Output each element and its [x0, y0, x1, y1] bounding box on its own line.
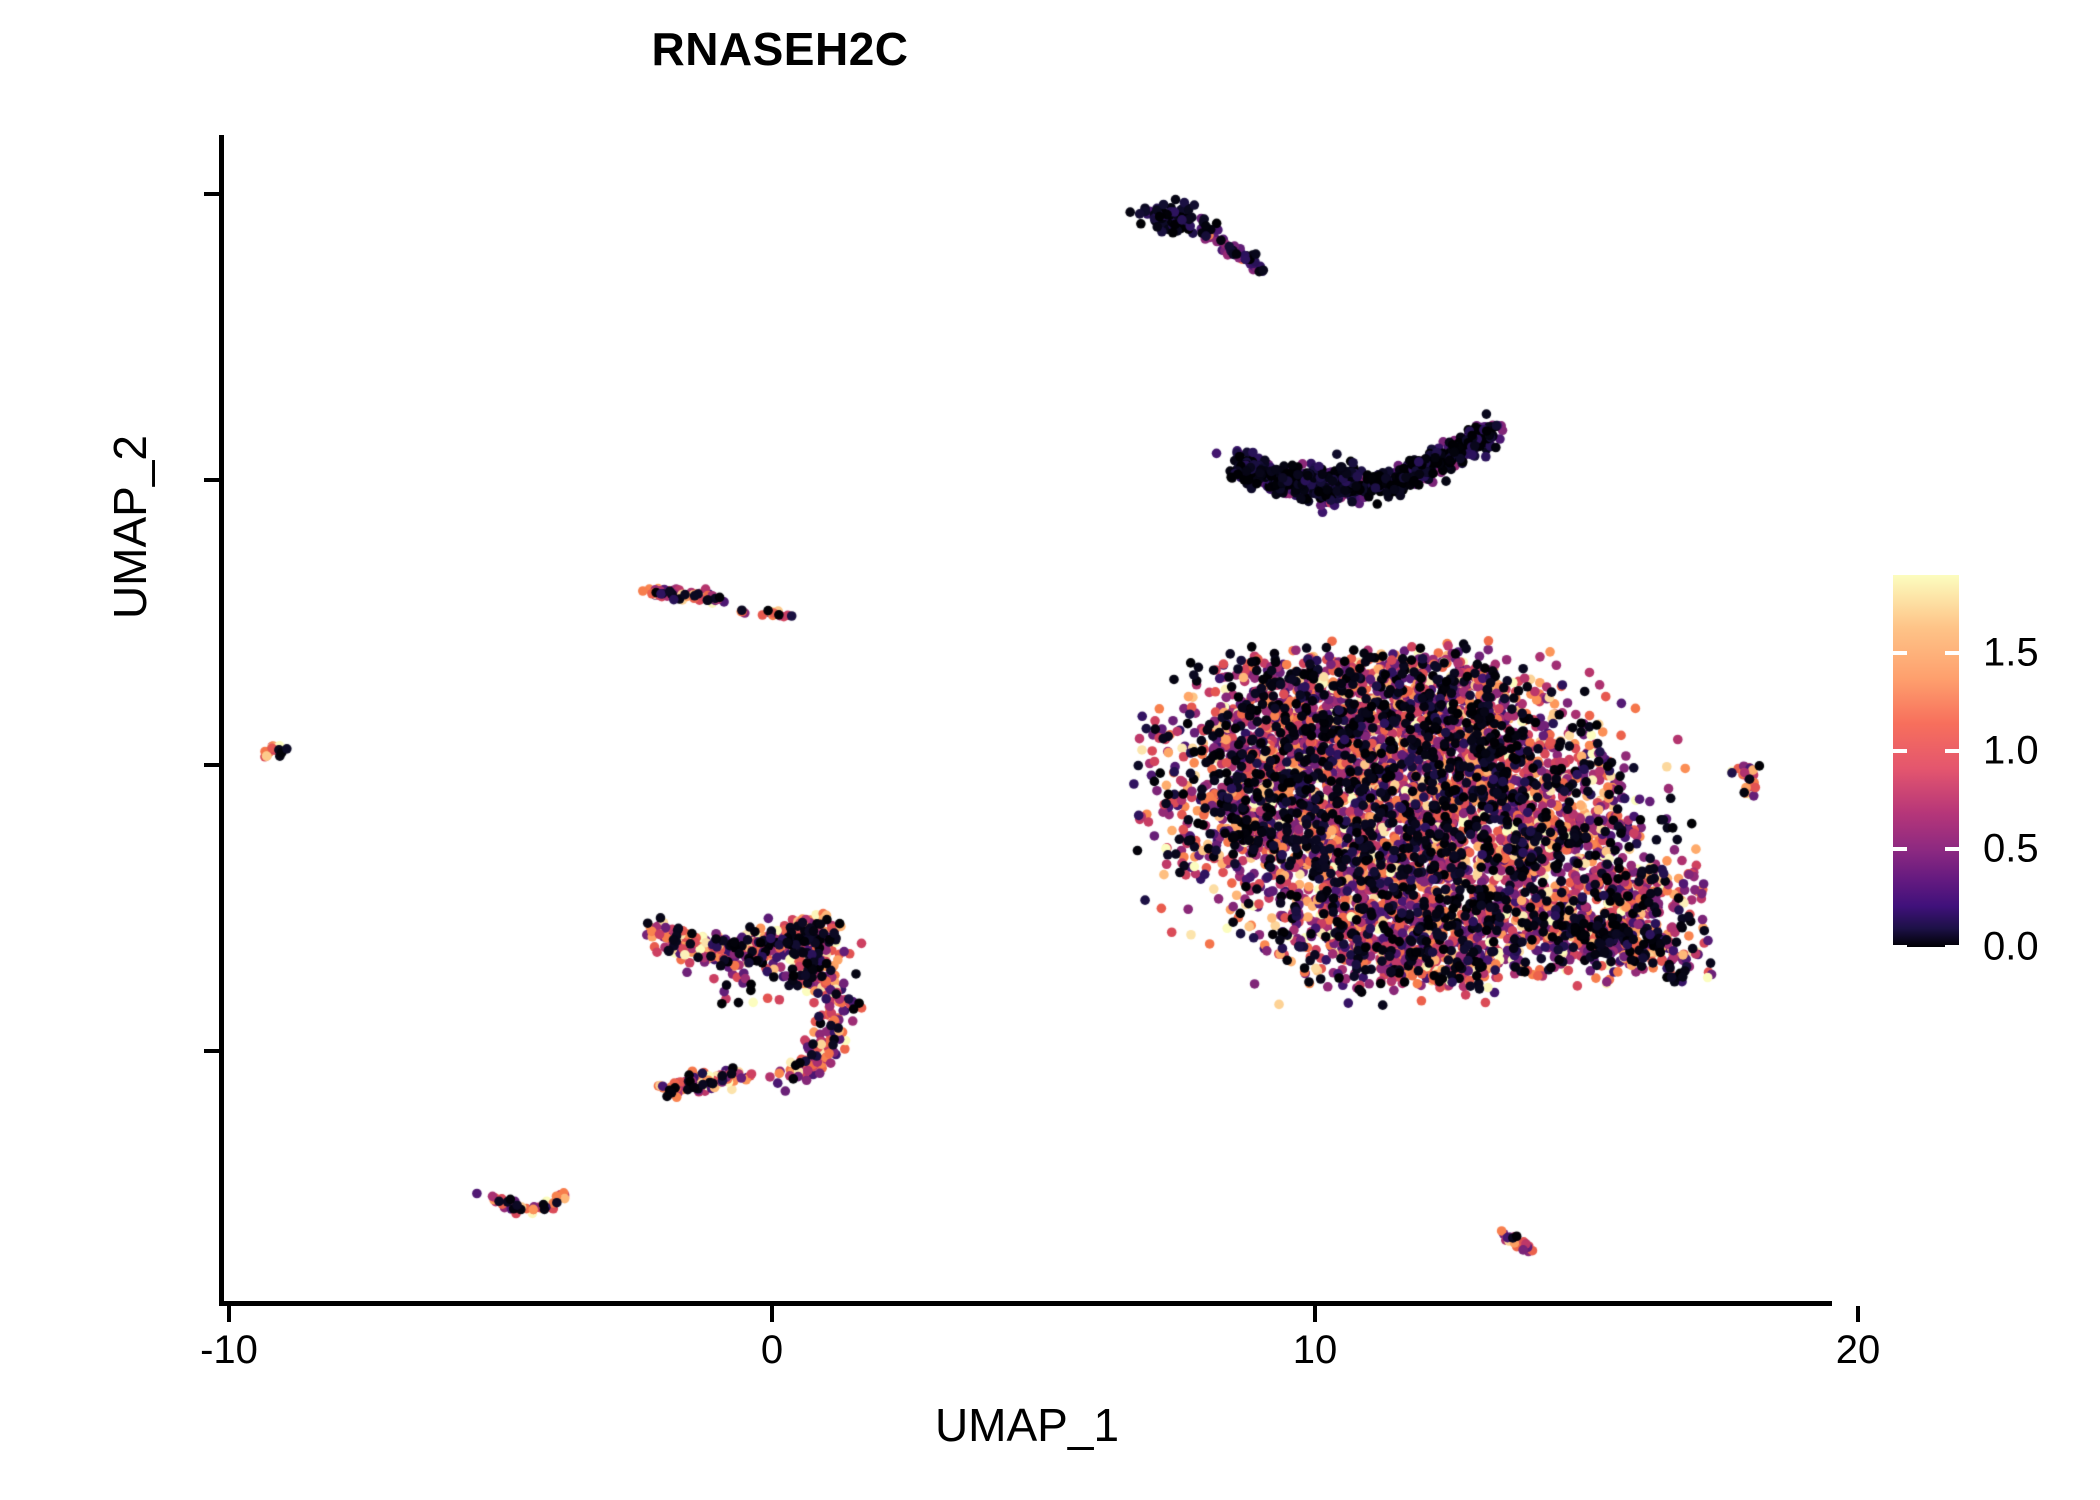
- x-tick-mark: [1856, 1306, 1860, 1322]
- colorbar-tick-label: 0.5: [1983, 827, 2039, 872]
- colorbar-tick-mark: [1893, 749, 1907, 753]
- colorbar-tick-label: 1.5: [1983, 631, 2039, 676]
- y-tick-mark: [204, 1049, 220, 1053]
- umap-figure: RNASEH2C -1001020 -1001020 UMAP_1 UMAP_2…: [0, 0, 2100, 1500]
- colorbar-gradient: [1893, 575, 1959, 947]
- y-axis-title: UMAP_2: [103, 377, 157, 677]
- x-tick-label: 20: [1836, 1328, 1881, 1373]
- colorbar-tick-mark: [1945, 847, 1959, 851]
- y-tick-mark: [204, 763, 220, 767]
- x-tick-mark: [1313, 1306, 1317, 1322]
- scatter-plot-panel[interactable]: [222, 135, 1830, 1303]
- colorbar-tick-mark: [1945, 945, 1959, 949]
- y-tick-mark: [204, 478, 220, 482]
- page-title: RNASEH2C: [0, 22, 1560, 76]
- x-tick-label: -10: [200, 1328, 258, 1373]
- x-tick-label: 0: [761, 1328, 783, 1373]
- x-axis-line: [222, 1301, 1832, 1306]
- colorbar-tick-mark: [1945, 651, 1959, 655]
- colorbar-tick-mark: [1893, 847, 1907, 851]
- colorbar-tick-label: 1.0: [1983, 729, 2039, 774]
- x-tick-label: 10: [1293, 1328, 1338, 1373]
- colorbar-tick-mark: [1893, 945, 1907, 949]
- colorbar-tick-mark: [1945, 749, 1959, 753]
- y-tick-mark: [204, 192, 220, 196]
- x-tick-mark: [227, 1306, 231, 1322]
- colorbar-tick-mark: [1893, 651, 1907, 655]
- y-axis-line: [219, 135, 224, 1306]
- scatter-points-layer: [222, 135, 1830, 1303]
- x-axis-title: UMAP_1: [222, 1398, 1832, 1452]
- colorbar-legend: 1.51.00.50.0: [1893, 575, 2093, 947]
- x-tick-mark: [770, 1306, 774, 1322]
- colorbar-tick-label: 0.0: [1983, 925, 2039, 970]
